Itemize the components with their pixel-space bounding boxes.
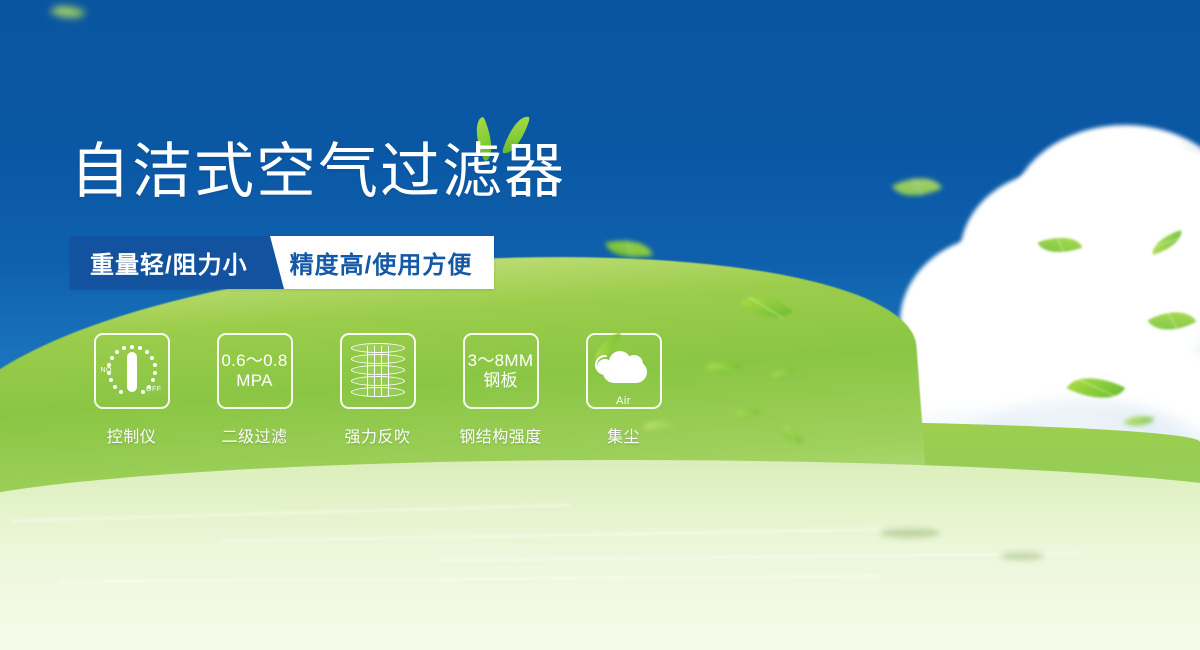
grass-streak [440,553,1080,562]
feature-label: 控制仪 [107,423,157,447]
control-dial-icon: NO OFF [101,341,163,401]
feature-icon-box: 3～8MM 钢板 [463,333,539,409]
air-label: Air [595,395,653,407]
feature-item-control[interactable]: NO OFF 控制仪 [70,333,193,447]
grass-streak [60,575,880,583]
feature-icon-box: 0.6～0.8 MPA [217,333,293,409]
pressure-unit-text: MPA [236,371,272,391]
feature-item-steel[interactable]: 3～8MM 钢板 钢结构强度 [439,333,562,447]
grass-shadow [1000,552,1044,560]
feature-item-dust[interactable]: Air 集尘 [562,333,685,447]
filter-stack-icon [351,343,405,399]
feature-item-filtration[interactable]: 0.6～0.8 MPA 二级过滤 [193,333,316,447]
grass-streak [220,528,920,542]
steel-plate-text-icon: 3～8MM [468,351,534,371]
subtitle-right: 精度高/使用方便 [256,236,495,289]
grass-streak [10,504,570,522]
feature-label: 钢结构强度 [459,423,542,447]
feature-icon-box [340,333,416,409]
feature-icon-box: NO OFF [94,333,170,409]
product-hero-banner: 自洁式空气过滤器 重量轻/阻力小 精度高/使用方便 [0,0,1200,650]
feature-label: 二级过滤 [221,423,287,447]
feature-icon-box: Air [586,333,662,409]
dial-label-off: OFF [146,386,162,393]
feature-item-backblow[interactable]: 强力反吹 [316,333,439,447]
subtitle-left: 重量轻/阻力小 [70,236,270,289]
dial-knob [127,352,137,392]
grass-shadow [880,528,940,538]
dial-label-no: NO [101,367,113,374]
grass-foreground [0,460,1200,650]
steel-plate-unit-text: 钢板 [483,371,518,391]
page-title: 自洁式空气过滤器 [70,140,566,204]
air-cloud-icon: Air [595,347,653,395]
feature-list: NO OFF 控制仪 0.6～0.8 MPA 二级过滤 [70,333,685,447]
grass-field-icon [0,420,1200,650]
pressure-text-icon: 0.6～0.8 [221,351,287,371]
subtitle-bar: 重量轻/阻力小 精度高/使用方便 [70,236,494,289]
feature-label: 强力反吹 [344,423,410,447]
feature-label: 集尘 [607,423,640,447]
